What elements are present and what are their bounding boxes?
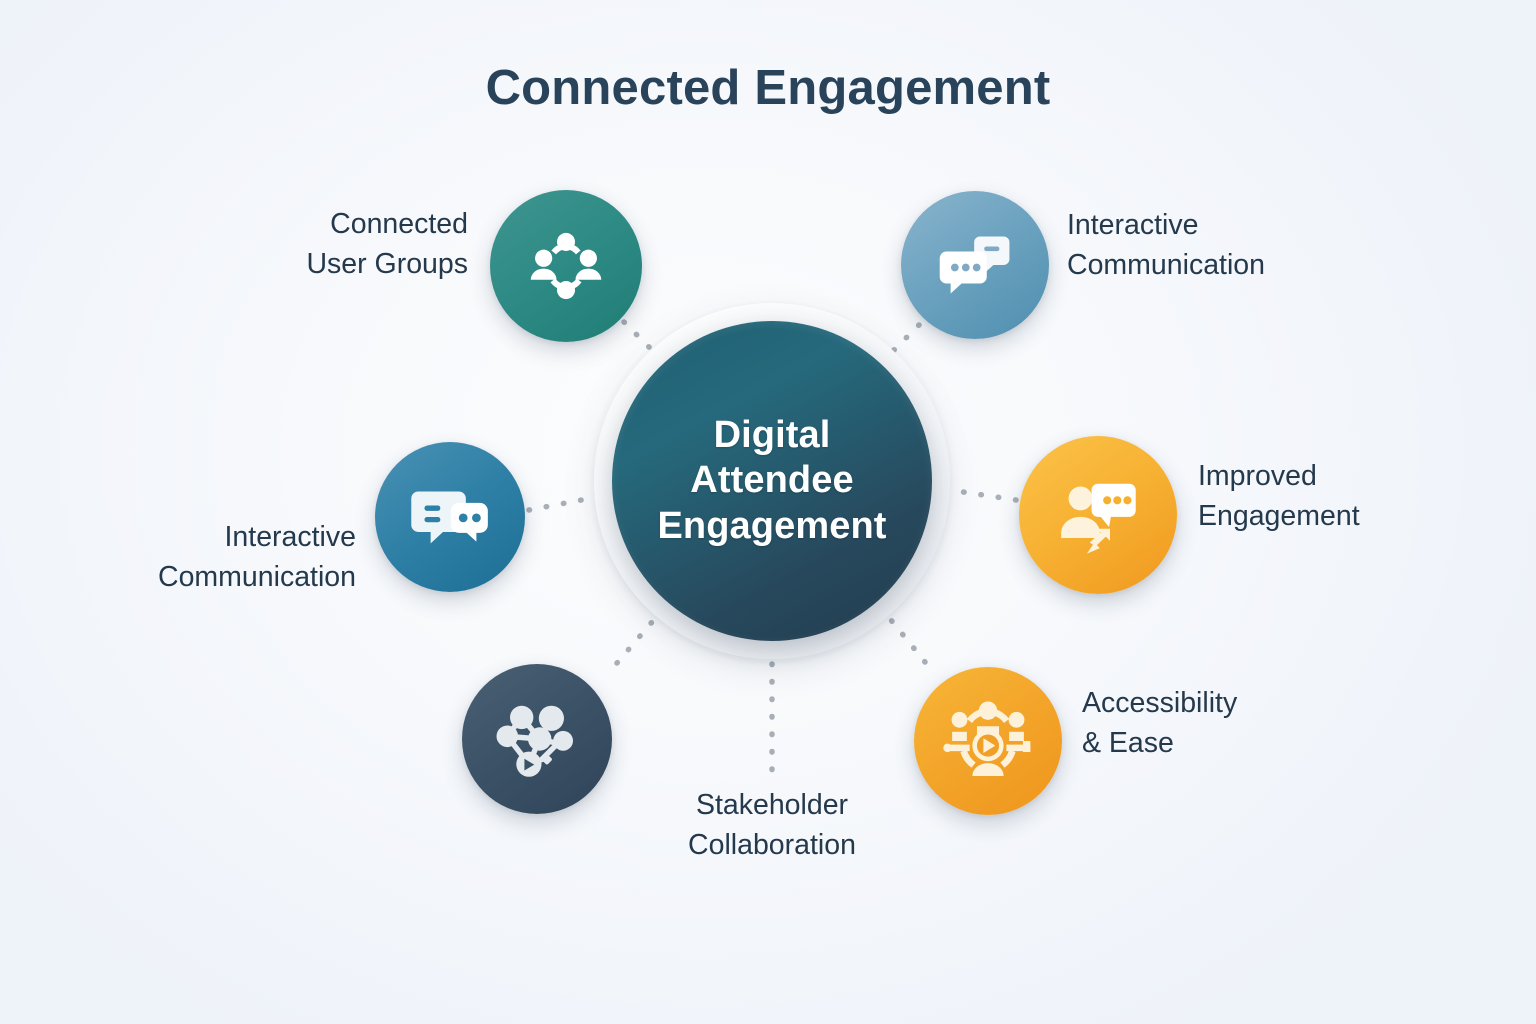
- node-stakeholder-collaboration[interactable]: [462, 664, 612, 814]
- person-chat-arrow-icon: [1052, 469, 1144, 561]
- people-play-network-icon: [942, 695, 1034, 787]
- label-stakeholder-collaboration: Stakeholder Collaboration: [622, 786, 922, 866]
- hub-label: Digital Attendee Engagement: [612, 413, 932, 549]
- label-improved-engagement: Improved Engagement: [1198, 457, 1498, 537]
- node-graph-icon: [492, 694, 582, 784]
- people-network-icon: [523, 223, 609, 309]
- page-title: Connected Engagement: [0, 60, 1536, 116]
- label-connected-user-groups: Connected User Groups: [178, 205, 468, 285]
- label-interactive-communication-left: Interactive Communication: [56, 518, 356, 598]
- node-improved-engagement[interactable]: [1019, 436, 1177, 594]
- hub-circle[interactable]: Digital Attendee Engagement: [612, 321, 932, 641]
- chat-bubbles-icon: [933, 223, 1017, 307]
- node-interactive-communication-left[interactable]: [375, 442, 525, 592]
- node-connected-user-groups[interactable]: [490, 190, 642, 342]
- infographic-canvas: Connected Engagement Digital Attendee En…: [0, 0, 1536, 1024]
- chat-bubbles-lines-icon: [406, 473, 494, 561]
- label-accessibility-ease: Accessibility & Ease: [1082, 684, 1382, 764]
- connector-line: [950, 490, 1016, 500]
- label-interactive-communication-top: Interactive Communication: [1067, 206, 1367, 286]
- node-accessibility-ease[interactable]: [914, 667, 1062, 815]
- node-interactive-communication-top[interactable]: [901, 191, 1049, 339]
- connector-line: [529, 498, 592, 510]
